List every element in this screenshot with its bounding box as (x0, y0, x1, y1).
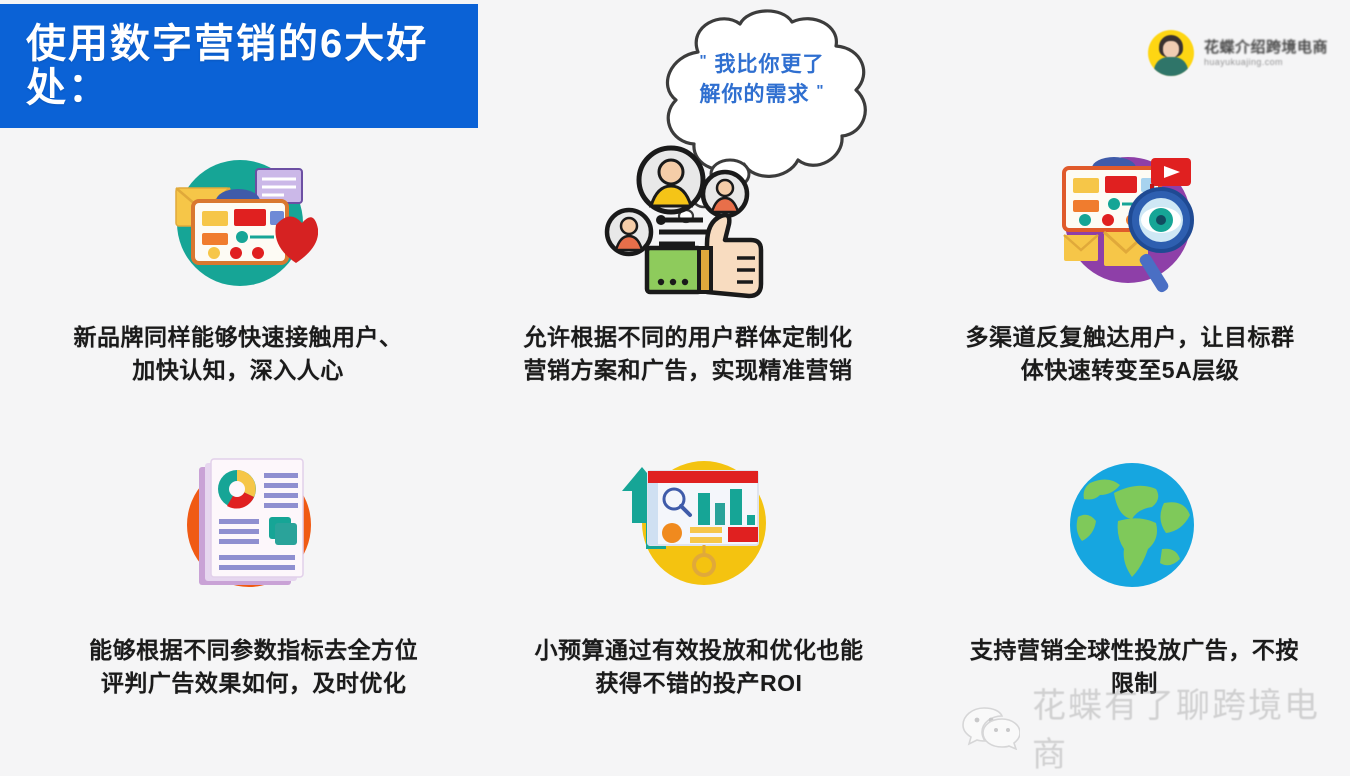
benefit-card-4: 能够根据不同参数指标去全方位评判广告效果如何，及时优化 (38, 445, 469, 701)
wechat-icon (962, 704, 1020, 750)
report-analytics-document-icon (169, 445, 339, 610)
benefit-card-6: 支持营销全球性投放广告，不按限制 (919, 445, 1350, 701)
watermark-top-text: 花蝶介绍跨境电商 huayukuajing.com (1204, 39, 1328, 68)
benefit-caption-5: 小预算通过有效投放和优化也能获得不错的投产ROI (529, 634, 869, 701)
thought-bubble-line-2: 解你的需求 (700, 83, 810, 106)
benefit-card-3: 多渠道反复触达用户，让目标群体快速转变至5A层级 (910, 140, 1350, 388)
quote-open-mark: " (700, 52, 708, 69)
multichannel-search-eye-icon (1045, 140, 1215, 305)
email-marketing-dashboard-icon (153, 140, 323, 305)
watermark-brand-name: 花蝶介绍跨境电商 (1204, 39, 1328, 57)
avatar-body (1154, 57, 1188, 76)
benefits-row-1: 新品牌同样能够快速接触用户、加快认知，深入人心 (0, 140, 1350, 388)
avatar-face (1163, 41, 1179, 58)
presentation-bar-chart-icon (614, 445, 784, 610)
thought-bubble-text: " 我比你更了 解你的需求 " (664, 50, 860, 111)
benefit-caption-1: 新品牌同样能够快速接触用户、加快认知，深入人心 (68, 321, 408, 388)
benefit-caption-3: 多渠道反复触达用户，让目标群体快速转变至5A层级 (960, 321, 1300, 388)
benefit-card-1: 新品牌同样能够快速接触用户、加快认知，深入人心 (18, 140, 458, 388)
watermark-url: huayukuajing.com (1204, 57, 1328, 68)
page-title: 使用数字营销的6大好处： (26, 22, 478, 110)
benefit-card-2: 允许根据不同的用户群体定制化营销方案和广告，实现精准营销 (468, 140, 908, 388)
slide-canvas: 使用数字营销的6大好处： " 我比你更了 解你的需求 " 花蝶介绍跨境电商 hu… (0, 0, 1350, 762)
watermark-top-right: 花蝶介绍跨境电商 huayukuajing.com (1148, 30, 1328, 76)
benefit-caption-4: 能够根据不同参数指标去全方位评判广告效果如何，及时优化 (84, 634, 424, 701)
audience-thumbs-up-icon (603, 140, 773, 305)
benefits-row-2: 能够根据不同参数指标去全方位评判广告效果如何，及时优化 (0, 445, 1350, 701)
benefit-card-5: 小预算通过有效投放和优化也能获得不错的投产ROI (483, 445, 914, 701)
quote-close-mark: " (816, 82, 824, 99)
watermark-bottom-text: 花蝶有了聊跨境电商 (1032, 678, 1350, 776)
thought-bubble-line-1: 我比你更了 (714, 53, 824, 76)
avatar (1148, 30, 1194, 76)
globe-earth-icon (1049, 445, 1219, 610)
watermark-bottom-right: 花蝶有了聊跨境电商 (962, 678, 1350, 776)
benefit-caption-2: 允许根据不同的用户群体定制化营销方案和广告，实现精准营销 (518, 321, 858, 388)
title-banner: 使用数字营销的6大好处： (0, 4, 478, 128)
